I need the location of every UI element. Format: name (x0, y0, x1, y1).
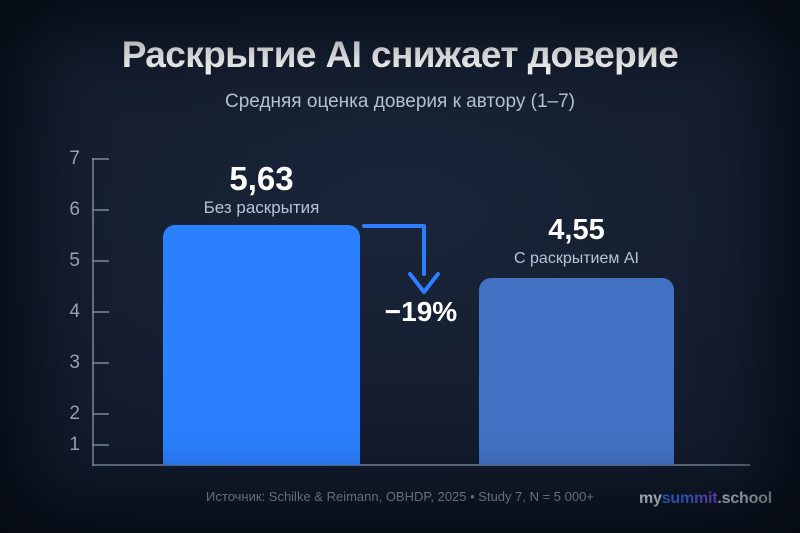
y-axis-tick-label: 1 (52, 435, 80, 454)
y-axis-tick-label: 2 (52, 404, 80, 423)
chart-canvas: Раскрытие AI снижает доверие Средняя оце… (0, 0, 800, 533)
y-axis-tick (92, 311, 109, 313)
y-axis-tick (92, 209, 109, 211)
y-axis-tick (92, 444, 109, 446)
y-axis-tick-label: 7 (52, 149, 80, 168)
y-axis-tick-label: 6 (52, 200, 80, 219)
y-axis-tick (92, 413, 109, 415)
bar-with-disclosure[interactable] (479, 278, 674, 465)
logo-part-summit: summit (662, 490, 718, 507)
y-axis-tick (92, 362, 109, 364)
y-axis-tick-label: 3 (52, 353, 80, 372)
y-axis-tick-label: 5 (52, 251, 80, 270)
page-title: Раскрытие AI снижает доверие (0, 34, 800, 76)
brand-logo[interactable]: mysummit.school (639, 490, 772, 508)
y-axis-tick-label: 4 (52, 302, 80, 321)
logo-part-my: my (639, 490, 662, 507)
y-axis-tick (92, 158, 109, 160)
bar-label-no-disclosure: Без раскрытия (143, 198, 380, 218)
y-axis-tick (92, 260, 109, 262)
delta-percent-label: −19% (361, 296, 481, 328)
bar-no-disclosure[interactable] (163, 225, 360, 465)
logo-part-school: .school (717, 490, 772, 507)
elbow-down-arrow-icon (358, 216, 453, 301)
bar-value-no-disclosure: 5,63 (163, 160, 360, 198)
bar-value-with-disclosure: 4,55 (479, 214, 674, 247)
bar-label-with-disclosure: С раскрытием AI (459, 250, 694, 268)
page-subtitle: Средняя оценка доверия к автору (1–7) (0, 91, 800, 113)
